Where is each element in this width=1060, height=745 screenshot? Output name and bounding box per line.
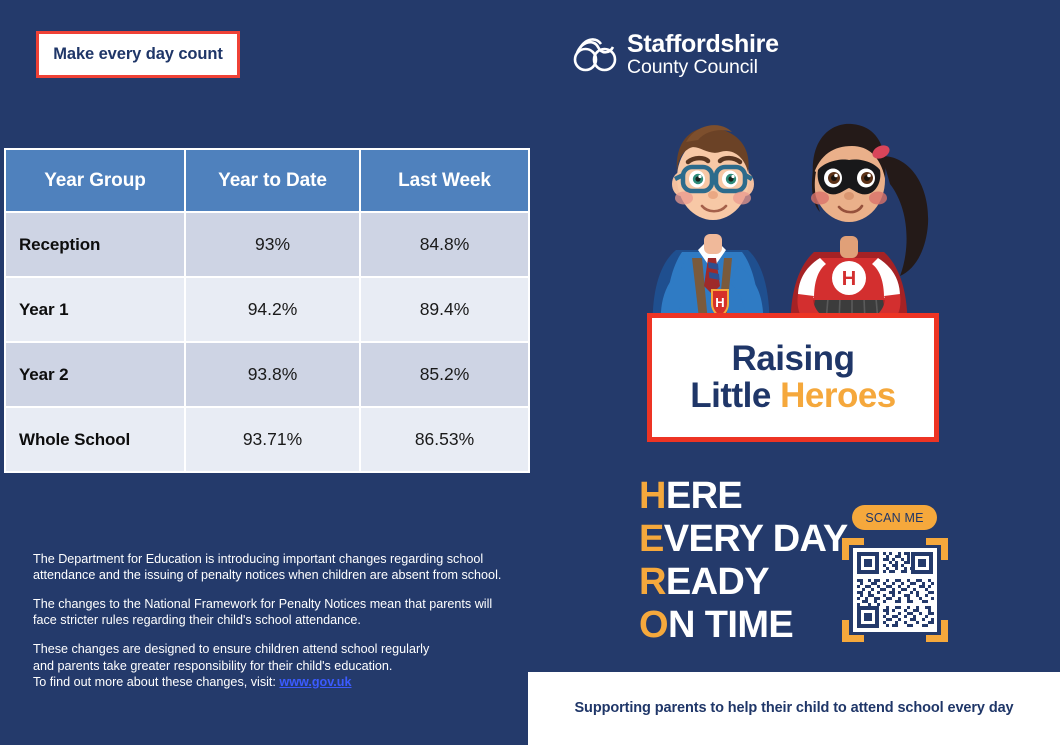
cell-year-group: Reception xyxy=(5,212,185,277)
logo-line-county-council: County Council xyxy=(627,58,779,78)
cell-year-group: Whole School xyxy=(5,407,185,472)
logo-wordmark: Staffordshire County Council xyxy=(627,32,779,77)
logo-line-staffordshire: Staffordshire xyxy=(627,32,779,58)
column-header-year-group: Year Group xyxy=(5,149,185,212)
cell-last-week: 86.53% xyxy=(360,407,529,472)
sign-line-little-heroes: Little Heroes xyxy=(690,378,896,414)
table-row: Whole School 93.71% 86.53% xyxy=(5,407,529,472)
copy-line-2: and parents take greater responsibility … xyxy=(33,659,392,673)
acrostic-row-here: HERE xyxy=(639,477,848,515)
table-row: Year 1 94.2% 89.4% xyxy=(5,277,529,342)
cell-year-to-date: 93% xyxy=(185,212,360,277)
raising-little-heroes-sign: Raising Little Heroes xyxy=(647,313,939,442)
scan-me-badge: SCAN ME xyxy=(852,505,937,530)
acrostic-rest-every-day: VERY DAY xyxy=(664,518,848,560)
acrostic-cap-r: R xyxy=(639,561,666,603)
tagline-text: Make every day count xyxy=(53,45,223,64)
tagline-badge: Make every day count xyxy=(36,31,240,78)
attendance-table: Year Group Year to Date Last Week Recept… xyxy=(4,148,530,473)
cell-year-group: Year 2 xyxy=(5,342,185,407)
information-copy: The Department for Education is introduc… xyxy=(33,551,503,690)
cell-last-week: 89.4% xyxy=(360,277,529,342)
staffordshire-knot-icon xyxy=(572,35,618,75)
acrostic-cap-h: H xyxy=(639,475,666,517)
table-row: Reception 93% 84.8% xyxy=(5,212,529,277)
table-header-row: Year Group Year to Date Last Week xyxy=(5,149,529,212)
cell-last-week: 84.8% xyxy=(360,212,529,277)
cell-year-to-date: 94.2% xyxy=(185,277,360,342)
sign-word-heroes: Heroes xyxy=(780,376,896,415)
sign-word-little: Little xyxy=(690,376,780,415)
attendance-poster: Make every day count Staffordshire Count… xyxy=(0,0,1060,745)
acrostic-row-ready: READY xyxy=(639,563,848,601)
hero-acrostic: HERE EVERY DAY READY ON TIME xyxy=(639,477,848,649)
copy-line-1: These changes are designed to ensure chi… xyxy=(33,642,429,656)
svg-text:H: H xyxy=(715,295,724,310)
acrostic-row-on-time: ON TIME xyxy=(639,606,848,644)
qr-code-icon[interactable] xyxy=(842,538,948,642)
acrostic-cap-o: O xyxy=(639,604,668,646)
svg-text:H: H xyxy=(842,268,856,290)
attendance-table-container: Year Group Year to Date Last Week Recept… xyxy=(4,148,528,472)
cell-year-group: Year 1 xyxy=(5,277,185,342)
acrostic-rest-ready: EADY xyxy=(666,561,769,603)
table-row: Year 2 93.8% 85.2% xyxy=(5,342,529,407)
acrostic-row-every-day: EVERY DAY xyxy=(639,520,848,558)
cell-year-to-date: 93.71% xyxy=(185,407,360,472)
copy-paragraph-2: The changes to the National Framework fo… xyxy=(33,596,503,628)
qr-code-block[interactable]: SCAN ME xyxy=(838,505,958,645)
banner-text: Supporting parents to help their child t… xyxy=(574,700,1013,716)
acrostic-rest-here: ERE xyxy=(666,475,742,517)
gov-uk-link[interactable]: www.gov.uk xyxy=(279,675,351,689)
copy-paragraph-1: The Department for Education is introduc… xyxy=(33,551,503,583)
column-header-last-week: Last Week xyxy=(360,149,529,212)
cell-last-week: 85.2% xyxy=(360,342,529,407)
scan-me-label: SCAN ME xyxy=(865,511,923,525)
column-header-year-to-date: Year to Date xyxy=(185,149,360,212)
bottom-banner: Supporting parents to help their child t… xyxy=(528,672,1060,745)
staffordshire-county-council-logo: Staffordshire County Council xyxy=(572,32,779,77)
acrostic-rest-on-time: N TIME xyxy=(668,604,793,646)
sign-line-raising: Raising xyxy=(732,341,855,377)
cell-year-to-date: 93.8% xyxy=(185,342,360,407)
acrostic-cap-e: E xyxy=(639,518,664,560)
copy-line-3-prefix: To find out more about these changes, vi… xyxy=(33,675,279,689)
copy-paragraph-3: These changes are designed to ensure chi… xyxy=(33,641,503,689)
